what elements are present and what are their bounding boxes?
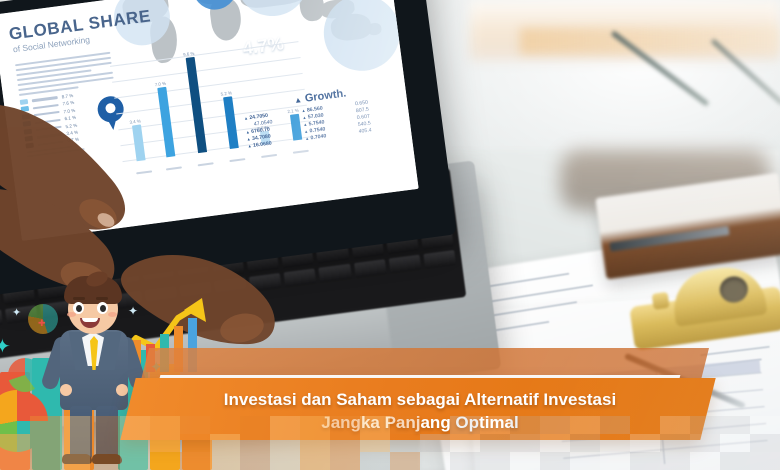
- deco-pie-chart: [8, 358, 42, 392]
- sparkle-icon: ✦: [12, 306, 21, 319]
- background-warm-strip-2: [520, 28, 780, 54]
- sparkle-icon: ✚: [38, 318, 46, 329]
- banner-title-line1: Investasi dan Saham sebagai Alternatif I…: [224, 389, 616, 412]
- thumbnail-canvas: 0.4% 4.7% GLOBAL SHARE of Social Network…: [0, 0, 780, 470]
- sparkle-icon: ✦: [0, 334, 11, 359]
- mosaic-overlay: [0, 416, 780, 470]
